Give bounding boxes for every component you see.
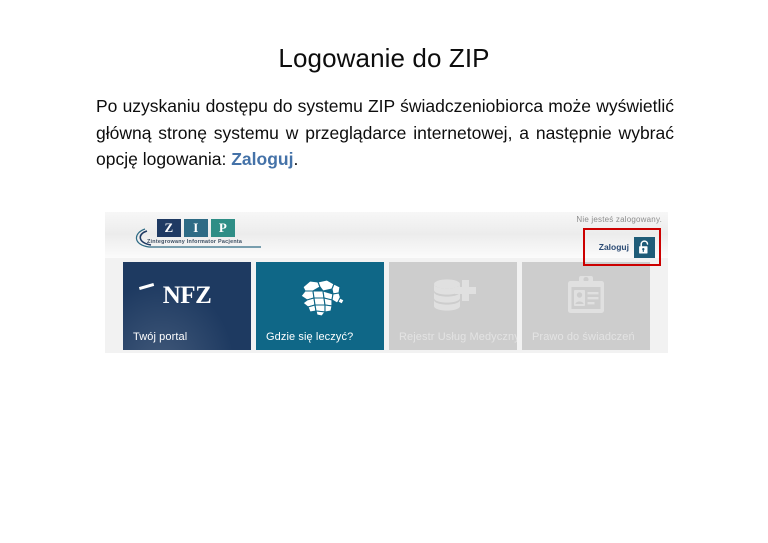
tile-prawo-do-swiadczen[interactable]: Prawo do świadczeń <box>522 262 650 350</box>
tile-label: Rejestr Usług Medycznych <box>399 331 517 343</box>
zaloguj-accent-text: Zaloguj <box>231 149 293 169</box>
nfz-logo-text: NFZ <box>163 282 212 310</box>
zip-letter-z: Z <box>157 219 181 237</box>
tile-twoj-portal[interactable]: NFZ Twój portal <box>123 262 251 350</box>
portal-tiles-row: NFZ Twój portal <box>105 259 668 353</box>
zip-logo[interactable]: Z I P Zintegrowany Informator Pacjenta <box>129 218 279 254</box>
zip-portal-screenshot: Z I P Zintegrowany Informator Pacjenta N… <box>105 212 668 353</box>
zip-letter-p: P <box>211 219 235 237</box>
tile-rejestr-uslug-medycznych[interactable]: Rejestr Usług Medycznych <box>389 262 517 350</box>
tile-label: Prawo do świadczeń <box>532 331 635 343</box>
tile-label: Twój portal <box>133 331 187 343</box>
open-padlock-icon <box>634 237 655 258</box>
tile-gdzie-sie-leczyc[interactable]: Gdzie się leczyć? <box>256 262 384 350</box>
slide-body-text: Po uzyskaniu dostępu do systemu ZIP świa… <box>96 93 674 173</box>
tile-label: Gdzie się leczyć? <box>266 331 353 343</box>
zip-logo-tagline: Zintegrowany Informator Pacjenta <box>147 239 242 245</box>
poland-map-icon <box>256 270 384 322</box>
body-text-tail: . <box>293 149 298 169</box>
zip-logo-letter-boxes: Z I P <box>157 219 235 237</box>
login-status-text: Nie jesteś zalogowany. <box>576 215 662 224</box>
database-plus-icon <box>389 270 517 322</box>
body-text-lead: Po uzyskaniu dostępu do systemu ZIP świa… <box>96 96 674 169</box>
zip-letter-i: I <box>184 219 208 237</box>
nfz-logo-slash <box>139 283 154 290</box>
nfz-logo-icon: NFZ <box>123 270 251 322</box>
page-title: Logowanie do ZIP <box>0 44 768 74</box>
login-button-label: Zaloguj <box>599 242 629 252</box>
portal-header-bar: Z I P Zintegrowany Informator Pacjenta N… <box>105 212 668 258</box>
id-card-icon <box>522 270 650 322</box>
login-button[interactable]: Zaloguj <box>589 234 655 260</box>
